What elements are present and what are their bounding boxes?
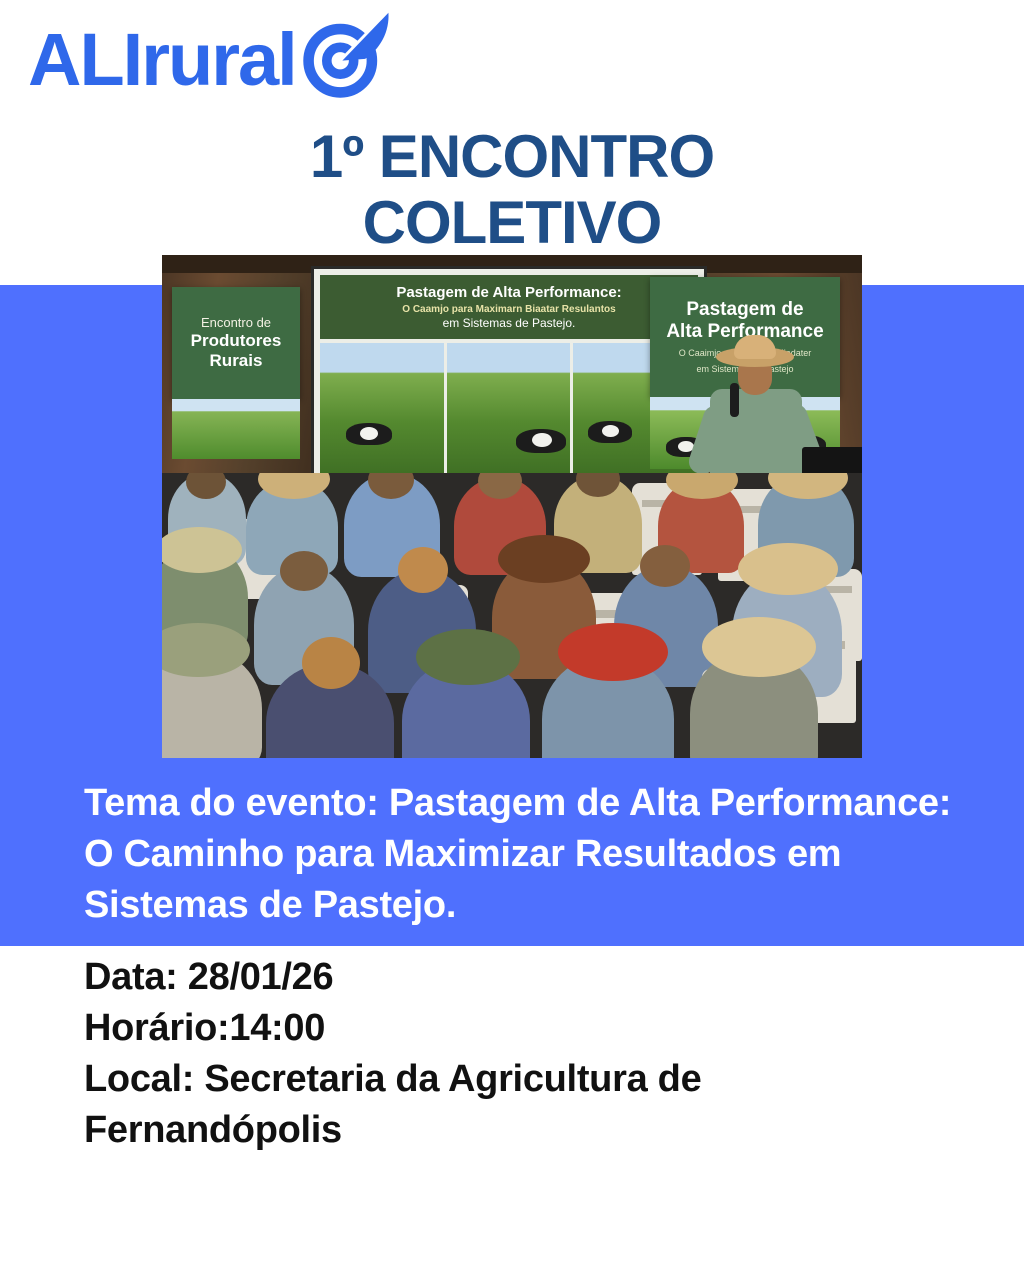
cap: [558, 623, 668, 681]
speaker-hat-crown: [734, 335, 776, 359]
attendee-head: [280, 551, 328, 591]
microphone: [730, 383, 739, 417]
title-line-2: COLETIVO: [0, 190, 1024, 256]
event-details: Data: 28/01/26 Horário:14:00 Local: Secr…: [84, 952, 984, 1156]
screen-line-1: Pastagem de Alta Performance:: [396, 285, 621, 301]
event-audience-photo: Encontro de Produtores Rurais Pastagem d…: [162, 255, 862, 758]
straw-hat: [702, 617, 816, 677]
banner-right-line-1: Pastagem de: [686, 299, 803, 321]
logo-wordmark: ALIrural: [28, 23, 296, 97]
event-location-line-2: Fernandópolis: [84, 1105, 984, 1156]
banner-produtores-rurais: Encontro de Produtores Rurais: [172, 287, 300, 399]
screen-line-3: em Sistemas de Pastejo.: [443, 316, 576, 330]
cow-shape: [532, 433, 552, 447]
target-arrow-icon: [298, 7, 394, 108]
attendee-hair: [302, 637, 360, 689]
cow-shape: [602, 425, 619, 437]
screen-panel-divider: [570, 343, 573, 475]
banner-left-line-2: Produtores: [191, 331, 282, 351]
screen-panel-divider: [444, 343, 447, 475]
banner-left-line-3: Rurais: [210, 351, 263, 371]
cap: [416, 629, 520, 685]
event-poster: ALIrural 1º ENCONTRO COLETIVO Encontro d…: [0, 0, 1024, 1280]
banner-left-pasture-image: [172, 399, 300, 459]
felt-hat: [498, 535, 590, 583]
banner-left-line-1: Encontro de: [201, 315, 271, 331]
audience-crowd: [162, 473, 862, 758]
screen-pasture-image: [320, 343, 698, 475]
projection-screen: Pastagem de Alta Performance: O Caamjo p…: [314, 269, 704, 481]
event-location-line-1: Local: Secretaria da Agricultura de: [84, 1054, 984, 1105]
event-time: Horário:14:00: [84, 1003, 984, 1054]
event-theme-text: Tema do evento: Pastagem de Alta Perform…: [84, 778, 954, 931]
attendee-head: [640, 545, 690, 587]
attendee-hair: [398, 547, 448, 593]
cow-shape: [360, 427, 378, 440]
ali-rural-logo: ALIrural: [28, 8, 498, 112]
event-date: Data: 28/01/26: [84, 952, 984, 1003]
page-title: 1º ENCONTRO COLETIVO: [0, 124, 1024, 256]
logo-text-ali: ALI: [28, 18, 141, 101]
logo-text-rural: rural: [141, 18, 296, 101]
title-line-1: 1º ENCONTRO: [0, 124, 1024, 190]
screen-title-block: Pastagem de Alta Performance: O Caamjo p…: [320, 275, 698, 339]
screen-line-2: O Caamjo para Maximarn Biaatar Resulanto…: [402, 304, 615, 316]
footer-logos: FAESP SINDRURAL FERNANDÓPOLIS-SP SENAR S…: [0, 1186, 1024, 1280]
straw-hat: [738, 543, 838, 595]
